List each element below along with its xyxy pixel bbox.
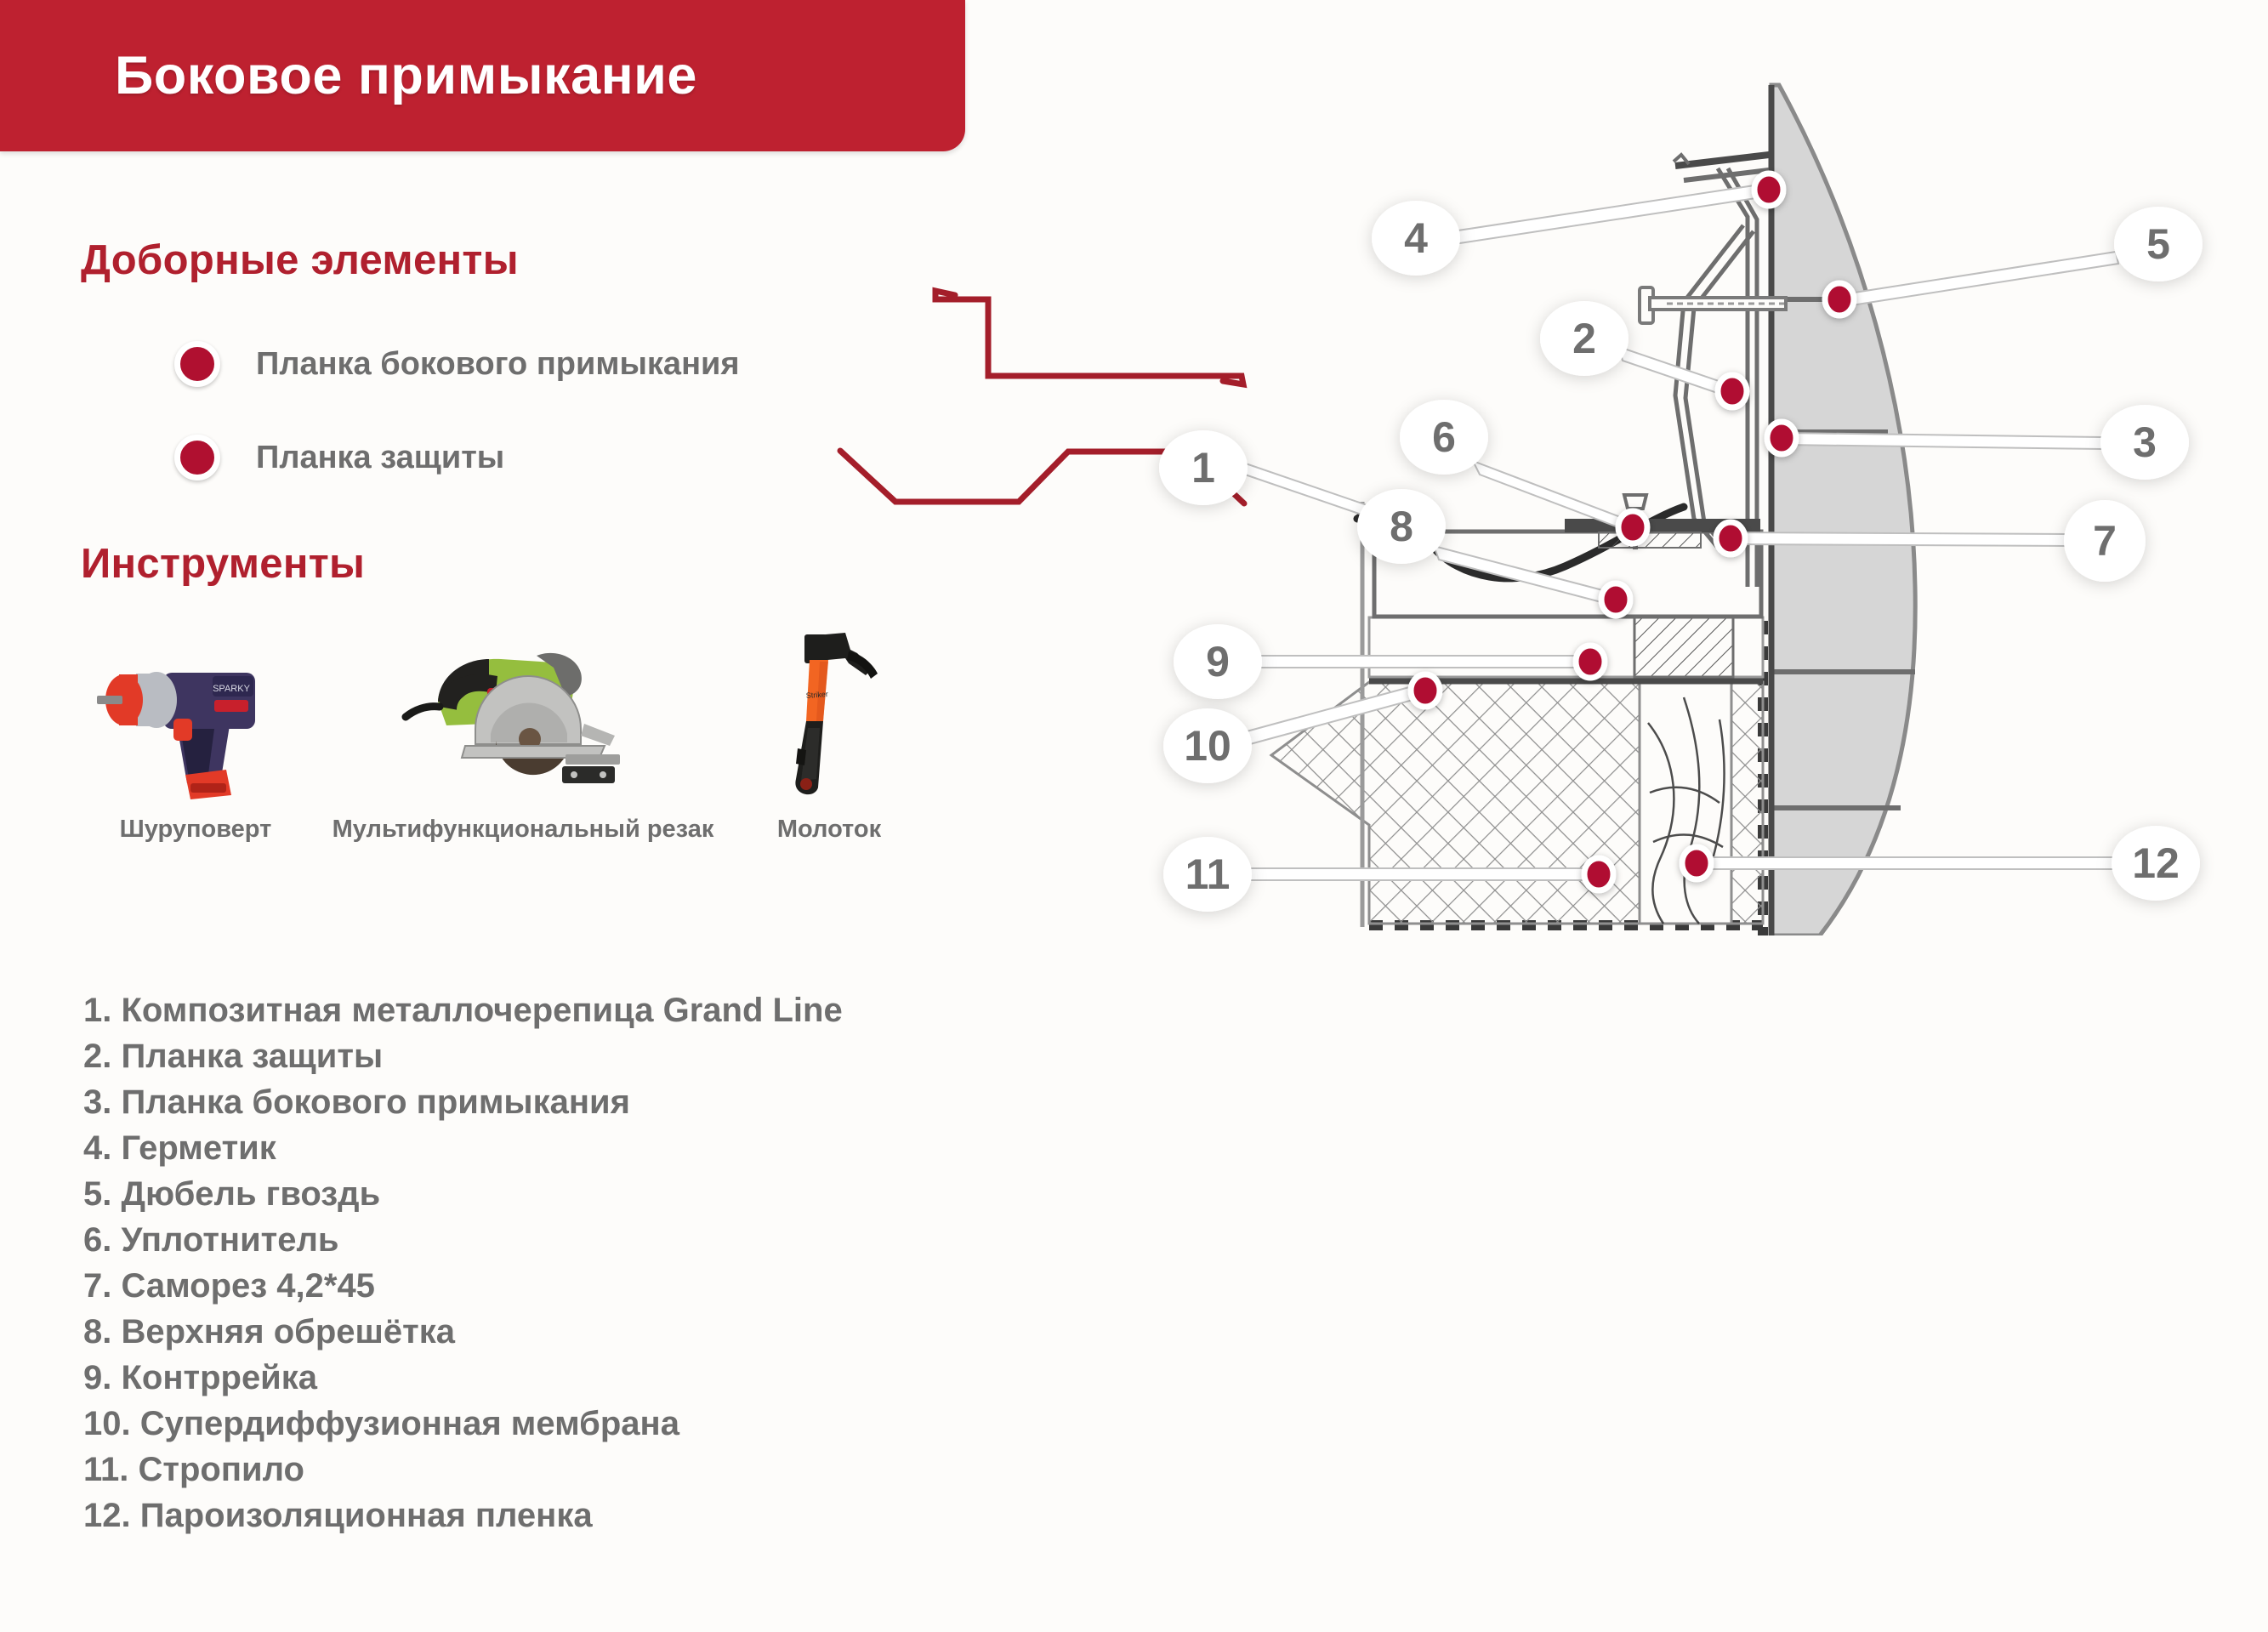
list-item: 8. Верхняя обрешётка	[83, 1315, 843, 1349]
callout-marker-8[interactable]: 8	[1357, 489, 1446, 564]
bullet-dot-icon	[174, 341, 220, 387]
tools-row: SPARKY Шуруповерт	[68, 621, 935, 901]
callout-number: 9	[1206, 638, 1230, 685]
svg-text:Striker: Striker	[805, 690, 828, 700]
callout-marker-7[interactable]: 7	[2064, 500, 2146, 582]
callout-marker-12[interactable]: 12	[2112, 826, 2200, 901]
callout-marker-6[interactable]: 6	[1400, 400, 1488, 475]
list-item: Планка бокового примыкания	[174, 336, 740, 392]
callout-number: 6	[1432, 413, 1456, 461]
bullet-dot-icon	[174, 435, 220, 481]
list-item: 11. Стропило	[83, 1453, 843, 1487]
rafter-member	[1640, 682, 1731, 924]
tool-label: Мультифункциональный резак	[323, 816, 723, 843]
callout-number: 8	[1390, 503, 1413, 550]
tool-item-drill: SPARKY Шуруповерт	[68, 621, 323, 843]
circular-saw-icon	[323, 621, 723, 804]
list-item: 7. Саморез 4,2*45	[83, 1269, 843, 1303]
list-item: 3. Планка бокового примыкания	[83, 1085, 843, 1119]
list-item: 1. Композитная металлочерепица Grand Lin…	[83, 993, 843, 1027]
callout-number: 2	[1572, 315, 1596, 362]
svg-text:SPARKY: SPARKY	[213, 684, 250, 694]
list-item: Планка защиты	[174, 429, 740, 486]
callout-marker-2[interactable]: 2	[1540, 301, 1629, 376]
callout-marker-1[interactable]: 1	[1159, 430, 1248, 505]
list-item: 2. Планка защиты	[83, 1039, 843, 1073]
tool-item-circular-saw: Мультифункциональный резак	[323, 621, 723, 843]
list-item: 9. Контррейка	[83, 1361, 843, 1395]
callout-marker-4[interactable]: 4	[1372, 201, 1460, 276]
callout-number: 7	[2093, 517, 2117, 565]
hammer-icon: Striker	[723, 621, 935, 804]
addon-label: Планка защиты	[256, 440, 504, 476]
tool-item-hammer: Striker Молоток	[723, 621, 935, 843]
legend-list: 1. Композитная металлочерепица Grand Lin…	[83, 993, 843, 1544]
callout-number: 11	[1185, 850, 1231, 898]
header-banner: Боковое примыкание	[0, 0, 965, 151]
callout-marker-5[interactable]: 5	[2114, 207, 2203, 281]
callout-number: 5	[2146, 220, 2170, 268]
callout-number: 1	[1191, 444, 1215, 492]
list-item: 12. Пароизоляционная пленка	[83, 1498, 843, 1532]
callout-number: 3	[2133, 418, 2157, 466]
list-item: 6. Уплотнитель	[83, 1223, 843, 1257]
addons-section-heading: Доборные элементы	[81, 236, 519, 284]
wall-section	[1771, 85, 1915, 935]
drill-icon: SPARKY	[68, 621, 323, 804]
callout-number: 12	[2132, 839, 2180, 887]
list-item: 5. Дюбель гвоздь	[83, 1177, 843, 1211]
technical-cross-section-diagram: 123456789101112	[1089, 77, 2268, 935]
callout-marker-9[interactable]: 9	[1174, 624, 1262, 699]
addon-label: Планка бокового примыкания	[256, 346, 740, 383]
list-item: 4. Герметик	[83, 1131, 843, 1165]
page-title: Боковое примыкание	[115, 45, 697, 106]
tools-section-heading: Инструменты	[81, 540, 365, 588]
callout-marker-11[interactable]: 11	[1163, 837, 1252, 912]
callout-marker-10[interactable]: 10	[1163, 708, 1252, 783]
callout-marker-3[interactable]: 3	[2100, 405, 2189, 480]
dowel-nail-fastener	[1640, 287, 1786, 323]
addons-list: Планка бокового примыкания Планка защиты	[174, 336, 740, 523]
tool-label: Шуруповерт	[68, 816, 323, 843]
callout-number: 4	[1404, 214, 1428, 262]
callout-number: 10	[1184, 722, 1231, 770]
list-item: 10. Супердиффузионная мембрана	[83, 1407, 843, 1441]
tool-label: Молоток	[723, 816, 935, 843]
